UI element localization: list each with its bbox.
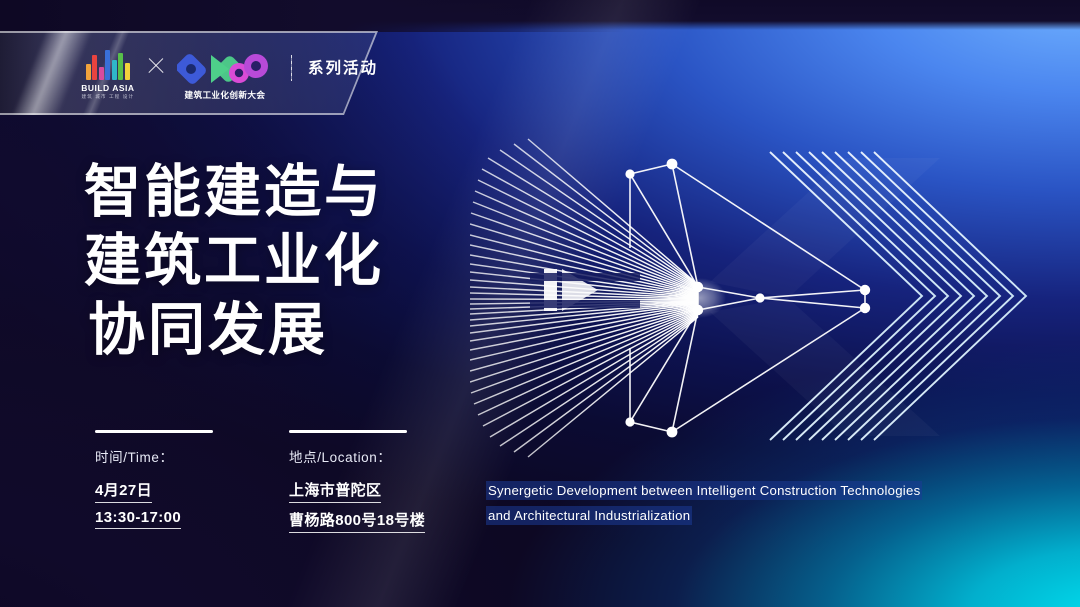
- time-label: 时间/Time：: [95, 446, 213, 466]
- poster-canvas: BUILD ASIA 建筑 城市 工程 设计 建筑工业化创新大会: [0, 0, 1080, 607]
- x-icon: [144, 54, 167, 78]
- title-line-2: 建筑工业化: [84, 227, 384, 296]
- location-label: 地点/Location：: [289, 446, 425, 466]
- network-arrow-graphic: [470, 130, 1030, 460]
- time-date: 4月27日: [95, 479, 152, 503]
- build-asia-bars-icon: [86, 50, 130, 80]
- conference-mark-icon: [177, 52, 273, 86]
- banner-tag: 系列活动: [308, 56, 378, 78]
- main-title: 智能建造与 建筑工业化 协同发展: [84, 158, 384, 365]
- conference-name: 建筑工业化创新大会: [184, 89, 265, 101]
- location-district: 上海市普陀区: [289, 479, 381, 503]
- banner-divider: [291, 55, 292, 81]
- conference-logo[interactable]: 建筑工业化创新大会: [175, 45, 275, 101]
- header-banner-content: BUILD ASIA 建筑 城市 工程 设计 建筑工业化创新大会: [0, 31, 378, 115]
- english-subtitle: Synergetic Development between Intellige…: [488, 478, 1008, 528]
- english-subtitle-line-1: Synergetic Development between Intellige…: [488, 483, 920, 498]
- title-line-1: 智能建造与: [84, 158, 384, 227]
- english-subtitle-line-2: and Architectural Industrialization: [488, 508, 690, 523]
- build-asia-subtitle: 建筑 城市 工程 设计: [82, 94, 135, 100]
- time-range: 13:30-17:00: [95, 509, 181, 529]
- event-location-block: 地点/Location： 上海市普陀区 曹杨路800号18号楼: [289, 430, 425, 539]
- build-asia-logo[interactable]: BUILD ASIA 建筑 城市 工程 设计: [78, 46, 138, 100]
- event-time-block: 时间/Time： 4月27日 13:30-17:00: [95, 430, 213, 539]
- location-rule: [289, 430, 407, 433]
- title-line-3: 协同发展: [88, 296, 384, 365]
- time-rule: [95, 430, 213, 433]
- event-info: 时间/Time： 4月27日 13:30-17:00 地点/Location： …: [95, 430, 425, 539]
- location-address: 曹杨路800号18号楼: [289, 509, 425, 533]
- build-asia-name: BUILD ASIA: [81, 83, 134, 93]
